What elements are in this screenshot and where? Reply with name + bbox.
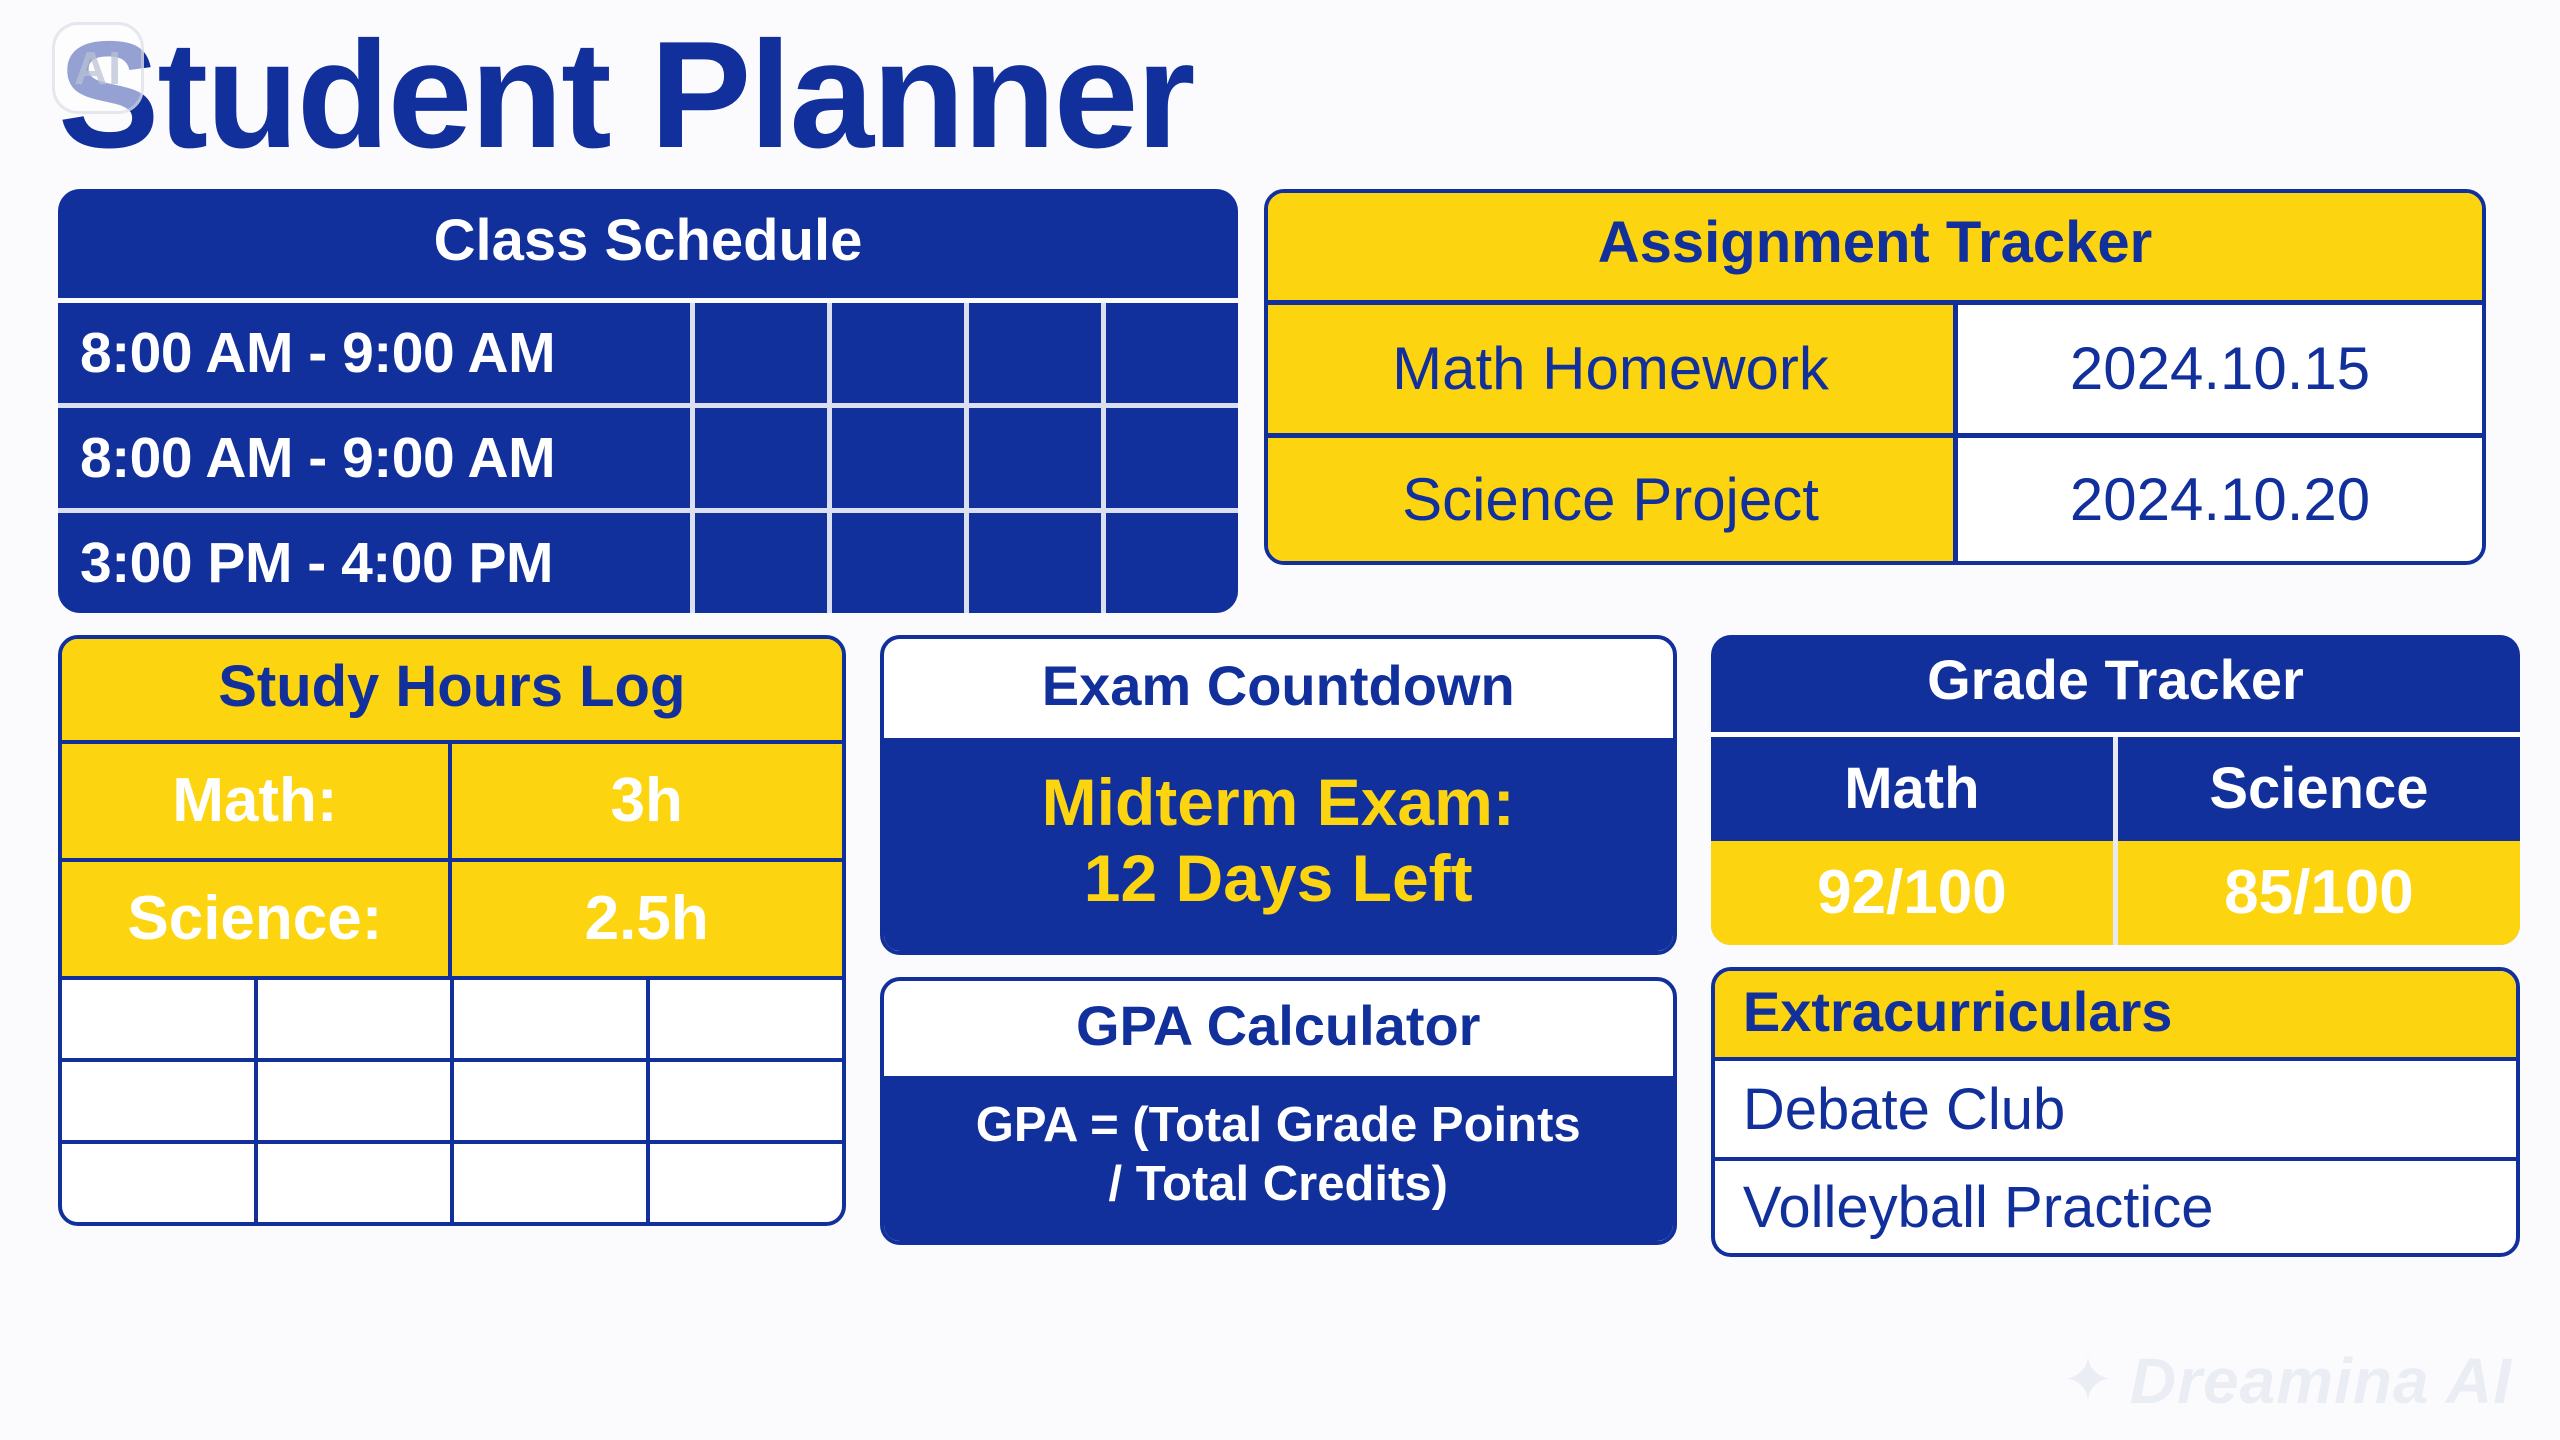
class-schedule-title: Class Schedule [58, 189, 1238, 298]
right-column: Grade Tracker Math Science 92/100 85/100… [1711, 635, 2520, 1257]
class-schedule-time-cell[interactable]: 8:00 AM - 9:00 AM [58, 408, 690, 508]
grade-tracker-score[interactable]: 92/100 [1711, 841, 2113, 945]
grade-tracker-values-row: 92/100 85/100 [1711, 841, 2520, 945]
grade-tracker-card: Grade Tracker Math Science 92/100 85/100 [1711, 635, 2520, 945]
assignment-due-date: 2024.10.20 [1958, 438, 2482, 561]
class-schedule-time-cell[interactable]: 3:00 PM - 4:00 PM [58, 513, 690, 613]
study-hours-blank-cell[interactable] [454, 980, 646, 1058]
study-hours-blank-cell[interactable] [258, 980, 450, 1058]
extracurriculars-title: Extracurriculars [1715, 971, 2516, 1062]
study-hours-blank-cell[interactable] [650, 980, 842, 1058]
exam-days-left: 12 Days Left [900, 840, 1657, 917]
class-schedule-slot-cell[interactable] [832, 408, 964, 508]
class-schedule-slot-cell[interactable] [1106, 408, 1238, 508]
study-hours-value: 3h [452, 744, 842, 858]
study-hours-blank-cell[interactable] [258, 1062, 450, 1140]
top-row: Class Schedule 8:00 AM - 9:00 AM 8:00 AM… [58, 189, 2520, 613]
class-schedule-slot-cell[interactable] [695, 513, 827, 613]
class-schedule-slot-cell[interactable] [969, 513, 1101, 613]
study-hours-blank-cell[interactable] [454, 1062, 646, 1140]
study-hours-log-title: Study Hours Log [62, 639, 842, 744]
study-hours-blank-cell[interactable] [258, 1144, 450, 1222]
assignment-tracker-title: Assignment Tracker [1268, 193, 2482, 305]
study-hours-blank-cell[interactable] [650, 1144, 842, 1222]
gpa-formula-line-2: / Total Credits) [898, 1155, 1659, 1215]
gpa-calculator-card: GPA Calculator GPA = (Total Grade Points… [880, 977, 1677, 1245]
assignment-due-date: 2024.10.15 [1958, 305, 2482, 433]
class-schedule-time-cell[interactable]: 8:00 AM - 9:00 AM [58, 303, 690, 403]
study-hours-blank-cell[interactable] [454, 1144, 646, 1222]
study-hours-value: 2.5h [452, 862, 842, 976]
extracurricular-item[interactable]: Volleyball Practice [1715, 1157, 2516, 1253]
study-hours-log-card: Study Hours Log Math: 3h Science: 2.5h [58, 635, 846, 1226]
exam-countdown-card: Exam Countdown Midterm Exam: 12 Days Lef… [880, 635, 1677, 955]
study-hours-subject: Science: [62, 862, 452, 976]
study-hours-row[interactable]: Math: 3h [62, 744, 842, 862]
study-hours-blank-cell[interactable] [62, 1062, 254, 1140]
assignment-tracker-card: Assignment Tracker Math Homework 2024.10… [1264, 189, 2486, 565]
class-schedule-slot-cell[interactable] [1106, 303, 1238, 403]
class-schedule-card: Class Schedule 8:00 AM - 9:00 AM 8:00 AM… [58, 189, 1238, 613]
exam-countdown-title: Exam Countdown [884, 639, 1673, 742]
assignment-name: Science Project [1268, 438, 1958, 561]
exam-countdown-body: Midterm Exam: 12 Days Left [884, 742, 1673, 951]
study-hours-subject: Math: [62, 744, 452, 858]
class-schedule-slot-cell[interactable] [695, 408, 827, 508]
grade-tracker-score[interactable]: 85/100 [2118, 841, 2520, 945]
assignment-row[interactable]: Math Homework 2024.10.15 [1268, 305, 2482, 433]
middle-column: Exam Countdown Midterm Exam: 12 Days Lef… [880, 635, 1677, 1245]
extracurricular-item[interactable]: Debate Club [1715, 1061, 2516, 1157]
study-hours-row[interactable]: Science: 2.5h [62, 862, 842, 980]
class-schedule-slot-cell[interactable] [969, 303, 1101, 403]
grade-tracker-column-header: Science [2118, 737, 2520, 841]
gpa-formula-line-1: GPA = (Total Grade Points [898, 1096, 1659, 1156]
study-hours-blank-cell[interactable] [62, 1144, 254, 1222]
gpa-calculator-title: GPA Calculator [884, 981, 1673, 1080]
class-schedule-slot-cell[interactable] [1106, 513, 1238, 613]
grade-tracker-title: Grade Tracker [1711, 635, 2520, 732]
assignment-name: Math Homework [1268, 305, 1958, 433]
study-hours-blank-cell[interactable] [650, 1062, 842, 1140]
gpa-formula-body: GPA = (Total Grade Points / Total Credit… [884, 1080, 1673, 1242]
extracurriculars-card: Extracurriculars Debate Club Volleyball … [1711, 967, 2520, 1258]
grade-tracker-column-header: Math [1711, 737, 2113, 841]
class-schedule-slot-cell[interactable] [832, 303, 964, 403]
assignment-row[interactable]: Science Project 2024.10.20 [1268, 433, 2482, 561]
study-hours-blank-grid [62, 980, 842, 1222]
page-title: Student Planner [58, 18, 2520, 173]
class-schedule-slot-cell[interactable] [832, 513, 964, 613]
planner-page: Student Planner Class Schedule 8:00 AM -… [0, 0, 2560, 1440]
class-schedule-grid: 8:00 AM - 9:00 AM 8:00 AM - 9:00 AM 3:00… [58, 298, 1238, 613]
study-hours-blank-cell[interactable] [62, 980, 254, 1058]
grade-tracker-header-row: Math Science [1711, 732, 2520, 841]
class-schedule-slot-cell[interactable] [695, 303, 827, 403]
exam-name: Midterm Exam: [900, 764, 1657, 841]
bottom-row: Study Hours Log Math: 3h Science: 2.5h [58, 635, 2520, 1257]
class-schedule-slot-cell[interactable] [969, 408, 1101, 508]
